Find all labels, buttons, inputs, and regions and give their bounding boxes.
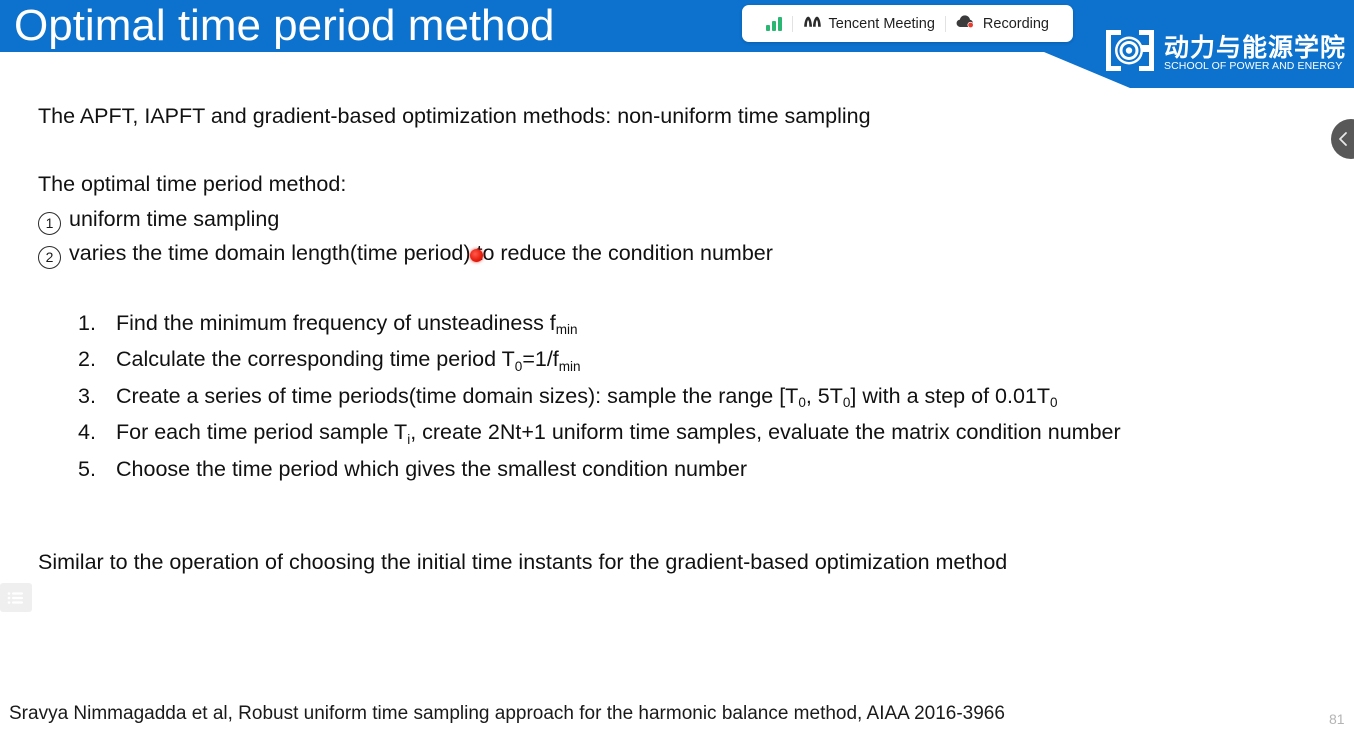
- circled-item-1-text: uniform time sampling: [69, 209, 279, 231]
- page-number: 81: [1329, 711, 1345, 727]
- signal-strength-indicator[interactable]: [756, 5, 792, 42]
- list-item: 3. Create a series of time periods(time …: [78, 383, 1278, 409]
- step-text: Calculate the corresponding time period …: [116, 346, 1278, 372]
- step-text: Find the minimum frequency of unsteadine…: [116, 310, 1278, 336]
- step-text: For each time period sample Ti, create 2…: [116, 419, 1278, 445]
- logo-text-block: 动力与能源学院 SCHOOL OF POWER AND ENERGY: [1164, 35, 1346, 72]
- step-number: 1.: [78, 310, 116, 336]
- logo-chinese-name: 动力与能源学院: [1164, 35, 1346, 60]
- step-number: 2.: [78, 346, 116, 372]
- logo-english-name: SCHOOL OF POWER AND ENERGY: [1164, 61, 1346, 72]
- circled-marker-2: 2: [38, 246, 61, 269]
- signal-strength-icon: [766, 17, 782, 31]
- tencent-meeting-label: Tencent Meeting: [829, 16, 935, 32]
- tencent-meeting-icon: [803, 15, 822, 33]
- step-number: 5.: [78, 456, 116, 482]
- step-text: Create a series of time periods(time dom…: [116, 383, 1278, 409]
- steps-list: 1. Find the minimum frequency of unstead…: [78, 310, 1278, 492]
- slide-list-icon: [7, 591, 25, 605]
- meeting-toolbar[interactable]: Tencent Meeting Recording: [742, 5, 1073, 42]
- method-heading: The optimal time period method:: [38, 174, 346, 196]
- step-number: 3.: [78, 383, 116, 409]
- recording-label: Recording: [983, 16, 1049, 32]
- step-text: Choose the time period which gives the s…: [116, 456, 1278, 482]
- list-item: 1. Find the minimum frequency of unstead…: [78, 310, 1278, 336]
- camera-aperture-icon: [1104, 28, 1156, 78]
- slide-list-toggle-button[interactable]: [0, 583, 32, 612]
- school-logo: 动力与能源学院 SCHOOL OF POWER AND ENERGY: [1104, 28, 1346, 78]
- citation-text: Sravya Nimmagadda et al, Robust uniform …: [9, 703, 1005, 725]
- circled-item-2: 2 varies the time domain length(time per…: [38, 243, 773, 267]
- collapse-panel-button[interactable]: [1331, 119, 1354, 159]
- circled-item-1: 1 uniform time sampling: [38, 209, 279, 233]
- recording-cloud-icon: [956, 14, 976, 34]
- intro-line: The APFT, IAPFT and gradient-based optim…: [38, 106, 871, 128]
- laser-pointer-dot: [470, 249, 483, 262]
- list-item: 4. For each time period sample Ti, creat…: [78, 419, 1278, 445]
- list-item: 2. Calculate the corresponding time peri…: [78, 346, 1278, 372]
- tencent-meeting-item[interactable]: Tencent Meeting: [793, 5, 945, 42]
- page-title: Optimal time period method: [14, 0, 554, 54]
- closing-line: Similar to the operation of choosing the…: [38, 552, 1007, 574]
- circled-marker-1: 1: [38, 212, 61, 235]
- recording-item[interactable]: Recording: [946, 5, 1059, 42]
- list-item: 5. Choose the time period which gives th…: [78, 456, 1278, 482]
- step-number: 4.: [78, 419, 116, 445]
- circled-item-2-text: varies the time domain length(time perio…: [69, 243, 773, 265]
